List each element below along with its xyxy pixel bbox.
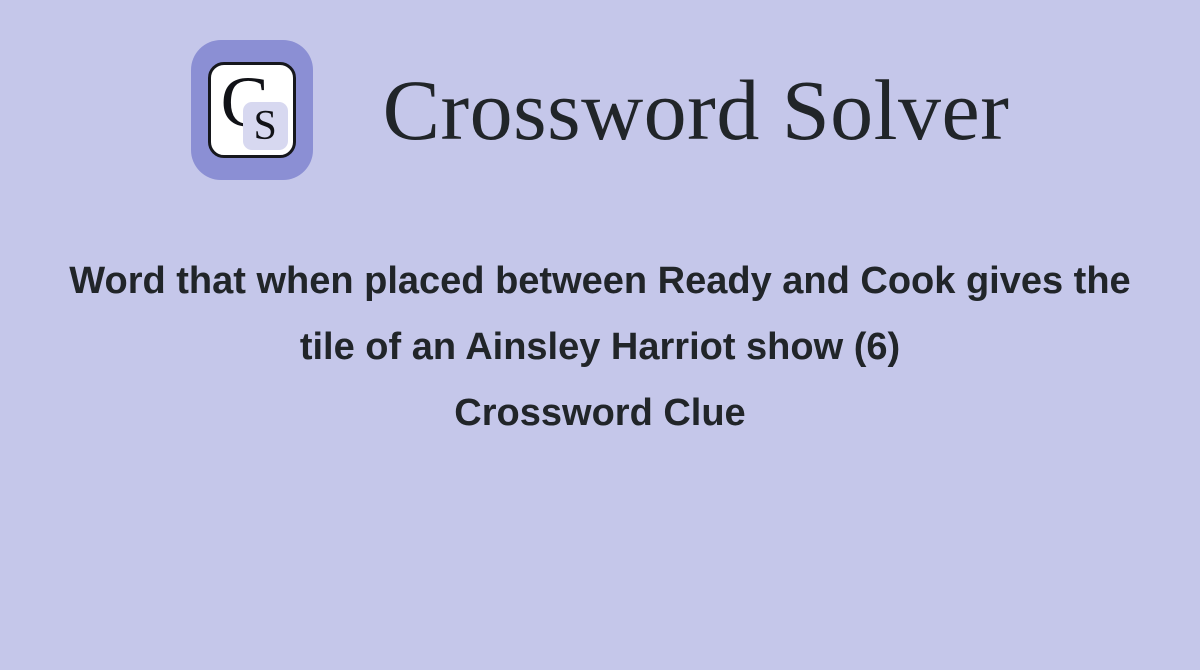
site-title: Crossword Solver	[383, 62, 1010, 158]
clue-subtitle: Crossword Clue	[60, 380, 1140, 446]
site-header: C S Crossword Solver	[0, 40, 1200, 180]
page-root: C S Crossword Solver Word that when plac…	[0, 0, 1200, 670]
site-logo[interactable]: C S	[191, 40, 313, 180]
clue-question: Word that when placed between Ready and …	[60, 248, 1140, 380]
logo-s-badge: S	[243, 102, 288, 150]
logo-inner-tile: C S	[208, 62, 296, 158]
logo-letter-s: S	[243, 102, 288, 150]
clue-block: Word that when placed between Ready and …	[60, 248, 1140, 446]
